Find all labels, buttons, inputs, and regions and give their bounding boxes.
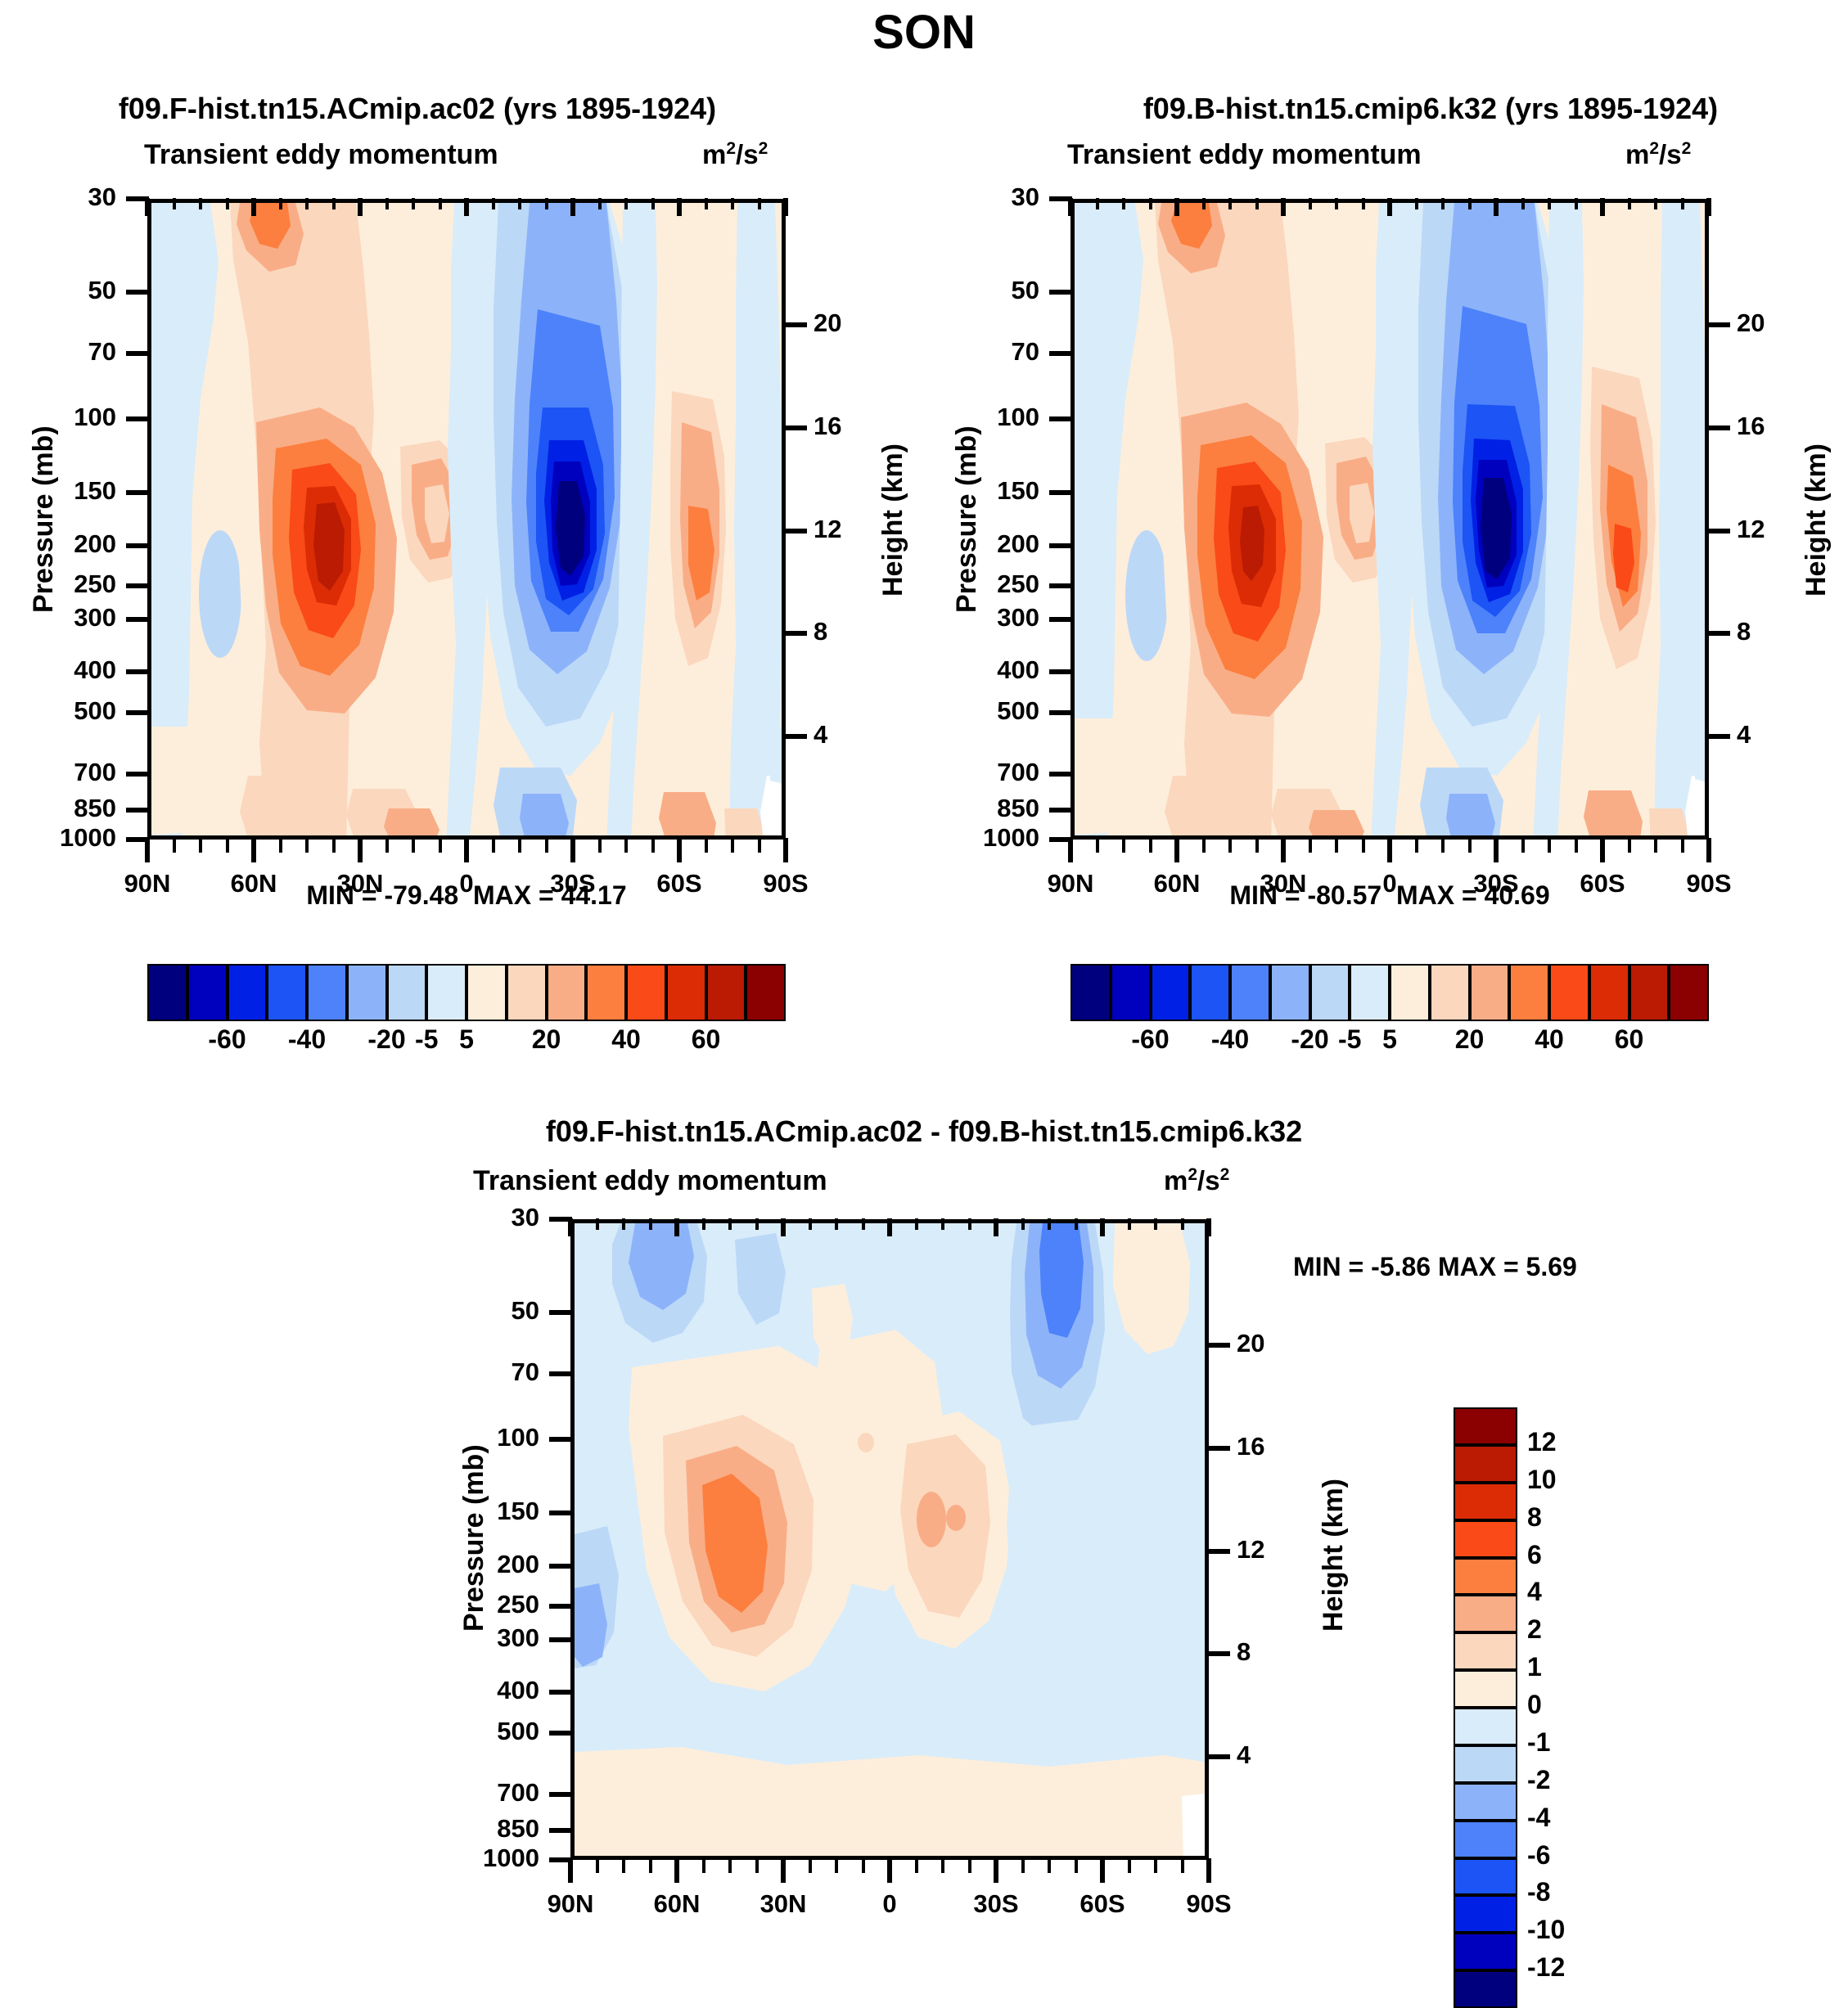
x-tick-mark <box>251 838 256 862</box>
colorbar-cell <box>467 964 507 1021</box>
colorbar-top-right <box>1070 964 1709 1021</box>
x-minor-tick-mark <box>1681 838 1684 853</box>
y-tick-mark <box>1049 710 1072 715</box>
x-top-tick-mark <box>1387 198 1392 216</box>
y-tick-mark <box>126 583 149 588</box>
colorbar-cell <box>1390 964 1430 1021</box>
y2-tick-label: 8 <box>1737 617 1794 646</box>
y-tick-label: 850 <box>0 794 116 823</box>
x-top-minor-tick-mark <box>1202 198 1206 209</box>
x-top-minor-tick-mark <box>1521 198 1525 209</box>
x-top-tick-mark <box>358 198 363 216</box>
x-minor-tick-mark <box>1628 838 1631 853</box>
x-top-minor-tick-mark <box>1021 1218 1025 1230</box>
x-minor-tick-mark <box>1415 838 1418 853</box>
colorbar-cell <box>1454 1933 1517 1970</box>
x-tick-label: 30S <box>939 1889 1053 1919</box>
colorbar-cell <box>1549 964 1589 1021</box>
y-tick-mark <box>549 1637 572 1642</box>
colorbar-cell <box>1454 1520 1517 1558</box>
y-tick-mark <box>1049 290 1072 295</box>
x-minor-tick-mark <box>1654 838 1657 853</box>
x-minor-tick-mark <box>1202 838 1206 853</box>
x-top-minor-tick-mark <box>624 198 628 209</box>
x-top-tick-mark <box>781 1218 786 1236</box>
y2-tick-label: 12 <box>1237 1535 1294 1565</box>
colorbar-tick-label: -10 <box>1527 1915 1617 1945</box>
y-tick-mark <box>1049 351 1072 356</box>
x-top-minor-tick-mark <box>702 1218 705 1230</box>
x-tick-mark <box>781 1858 786 1883</box>
y-tick-mark <box>1049 772 1072 777</box>
x-tick-mark <box>674 1858 679 1883</box>
colorbar-tick-label: -1 <box>1527 1727 1617 1758</box>
y2-tick-label: 4 <box>1737 720 1794 750</box>
x-minor-tick-mark <box>173 838 176 853</box>
colorbar-tick-label: 8 <box>1527 1502 1617 1533</box>
colorbar-cell <box>586 964 626 1021</box>
y2-tick-mark <box>784 529 807 534</box>
min-label-top-left: MIN = -79.48 <box>306 880 458 910</box>
x-top-minor-tick-mark <box>758 198 761 209</box>
y2-tick-label: 20 <box>1237 1329 1294 1358</box>
x-minor-tick-mark <box>702 1858 705 1873</box>
y-tick-mark <box>549 1511 572 1515</box>
minmax-bottom-diff: MIN = -5.86 MAX = 5.69 <box>1293 1252 1577 1282</box>
units-den-exponent: 2 <box>1220 1165 1230 1184</box>
x-minor-tick-mark <box>1122 838 1125 853</box>
x-top-tick-mark <box>783 198 788 216</box>
y2-tick-label: 4 <box>814 720 871 750</box>
x-minor-tick-mark <box>598 838 602 853</box>
panel-top-left: f09.F-hist.tn15.ACmip.ac02 (yrs 1895-192… <box>0 0 925 1080</box>
colorbar-cell <box>1454 1970 1517 2008</box>
x-top-minor-tick-mark <box>809 1218 812 1230</box>
colorbar-cell <box>1470 964 1510 1021</box>
panel-title-top-right: f09.B-hist.tn15.cmip6.k32 (yrs 1895-1924… <box>1013 92 1848 126</box>
y-tick-label: 1000 <box>923 823 1039 853</box>
colorbar-tick-label: -2 <box>1527 1765 1617 1795</box>
x-top-tick-mark <box>145 198 150 216</box>
y-tick-label: 150 <box>923 476 1039 506</box>
units-den-exponent: 2 <box>759 139 768 158</box>
colorbar-cell <box>1454 1483 1517 1520</box>
colorbar-cell <box>228 964 268 1021</box>
panel-title-top-left: f09.F-hist.tn15.ACmip.ac02 (yrs 1895-192… <box>0 92 835 126</box>
contour-field-bottom-diff <box>575 1223 1209 1860</box>
x-top-minor-tick-mark <box>1149 198 1152 209</box>
y-tick-label: 150 <box>0 476 116 506</box>
x-top-minor-tick-mark <box>1128 1218 1131 1230</box>
x-minor-tick-mark <box>624 838 628 853</box>
colorbar-cell <box>1454 1407 1517 1445</box>
colorbar-cell <box>1454 1821 1517 1858</box>
y2-tick-mark <box>1207 1549 1230 1554</box>
x-minor-tick-mark <box>1575 838 1578 853</box>
max-label-top-left: MAX = 44.17 <box>473 880 627 910</box>
y-tick-label: 850 <box>0 1814 539 1844</box>
y-tick-mark <box>126 710 149 715</box>
x-top-minor-tick-mark <box>1122 198 1125 209</box>
colorbar-labels-top-right: -60-40-20-55204060 <box>1070 1024 1709 1062</box>
y2-tick-label: 8 <box>814 617 871 646</box>
x-top-minor-tick-mark <box>1441 198 1445 209</box>
y-tick-label: 300 <box>0 603 116 633</box>
y-tick-label: 70 <box>923 337 1039 367</box>
y-tick-label: 100 <box>923 403 1039 432</box>
x-top-tick-mark <box>464 198 469 216</box>
y-tick-label: 30 <box>0 1203 539 1232</box>
colorbar-cell <box>1669 964 1709 1021</box>
y-tick-label: 100 <box>0 1423 539 1452</box>
y2-tick-label: 8 <box>1237 1637 1294 1667</box>
y-tick-label: 500 <box>0 696 116 726</box>
y2-tick-label: 16 <box>814 412 871 441</box>
y-tick-label: 250 <box>0 570 116 599</box>
x-tick-mark <box>1494 838 1499 862</box>
x-minor-tick-mark <box>731 838 734 853</box>
units-base: m <box>1164 1165 1188 1195</box>
y-tick-mark <box>126 543 149 548</box>
y-tick-mark <box>549 1828 572 1833</box>
contour-plot-top-right <box>1070 199 1709 840</box>
x-top-minor-tick-mark <box>862 1218 865 1230</box>
colorbar-cell <box>426 964 467 1021</box>
colorbar-cell <box>1454 1745 1517 1783</box>
y-tick-mark <box>126 490 149 495</box>
x-tick-mark <box>887 1858 892 1883</box>
x-minor-tick-mark <box>941 1858 944 1873</box>
x-top-tick-mark <box>251 198 256 216</box>
y2-tick-mark <box>1207 1651 1230 1656</box>
x-tick-mark <box>677 838 682 862</box>
x-top-minor-tick-mark <box>1309 198 1312 209</box>
x-top-minor-tick-mark <box>1181 1218 1184 1230</box>
colorbar-tick-label: -6 <box>1527 1840 1617 1871</box>
x-tick-mark <box>1600 838 1605 862</box>
x-minor-tick-mark <box>1521 838 1525 853</box>
colorbar-cell <box>1454 1445 1517 1483</box>
y-tick-mark <box>126 416 149 421</box>
x-top-minor-tick-mark <box>835 1218 838 1230</box>
y-tick-label: 150 <box>0 1497 539 1526</box>
x-minor-tick-mark <box>915 1858 918 1873</box>
colorbar-cell <box>1070 964 1111 1021</box>
colorbar-cell <box>1270 964 1310 1021</box>
max-label-top-right: MAX = 40.69 <box>1396 880 1550 910</box>
y2-tick-mark <box>784 734 807 739</box>
x-top-tick-mark <box>1281 198 1286 216</box>
x-minor-tick-mark <box>1154 1858 1157 1873</box>
x-tick-mark <box>1174 838 1179 862</box>
y-tick-label: 50 <box>0 1296 539 1326</box>
colorbar-cell <box>1310 964 1350 1021</box>
x-top-minor-tick-mark <box>1628 198 1631 209</box>
x-minor-tick-mark <box>1335 838 1338 853</box>
contour-field-top-left <box>151 203 786 840</box>
x-top-minor-tick-mark <box>1154 1218 1157 1230</box>
y-tick-mark <box>126 290 149 295</box>
colorbar-tick-label: 60 <box>1580 1024 1679 1055</box>
colorbar-cell <box>1350 964 1390 1021</box>
x-tick-label: 90S <box>1152 1889 1266 1919</box>
colorbar-cell <box>547 964 587 1021</box>
x-top-minor-tick-mark <box>332 198 336 209</box>
x-top-minor-tick-mark <box>915 1218 918 1230</box>
x-minor-tick-mark <box>332 838 336 853</box>
y-tick-label: 100 <box>0 403 116 432</box>
y2-tick-mark <box>1707 734 1730 739</box>
x-top-tick-mark <box>674 1218 679 1236</box>
x-tick-label: 90N <box>513 1889 628 1919</box>
y2-tick-mark <box>1707 631 1730 636</box>
x-minor-tick-mark <box>1021 1858 1025 1873</box>
x-top-minor-tick-mark <box>1548 198 1551 209</box>
x-minor-tick-mark <box>809 1858 812 1873</box>
y-tick-label: 250 <box>0 1590 539 1619</box>
figure-canvas: SON f09.F-hist.tn15.ACmip.ac02 (yrs 1895… <box>0 0 1848 1952</box>
x-top-minor-tick-mark <box>598 198 602 209</box>
x-tick-label: 30N <box>726 1889 841 1919</box>
units-slash: /s <box>736 139 759 169</box>
colorbar-tick-label: 1 <box>1527 1652 1617 1682</box>
x-minor-tick-mark <box>518 838 521 853</box>
y-tick-label: 200 <box>923 529 1039 559</box>
y2-tick-mark <box>1207 1754 1230 1759</box>
colorbar-cell <box>1454 1595 1517 1632</box>
x-tick-mark <box>570 838 575 862</box>
x-tick-mark <box>568 1858 573 1883</box>
colorbar-cell <box>307 964 347 1021</box>
x-minor-tick-mark <box>862 1858 865 1873</box>
colorbar-tick-label: -8 <box>1527 1877 1617 1907</box>
y-tick-label: 70 <box>0 337 116 367</box>
colorbar-labels-bottom-diff: 1210864210-1-2-4-6-8-10-12 <box>1527 1407 1642 2008</box>
x-minor-tick-mark <box>1075 1858 1078 1873</box>
colorbar-cell <box>1589 964 1629 1021</box>
x-top-minor-tick-mark <box>728 1218 732 1230</box>
y-tick-mark <box>1049 490 1072 495</box>
x-minor-tick-mark <box>835 1858 838 1873</box>
x-minor-tick-mark <box>1362 838 1365 853</box>
x-minor-tick-mark <box>226 838 229 853</box>
colorbar-cell <box>1629 964 1670 1021</box>
y-tick-label: 850 <box>923 794 1039 823</box>
colorbar-cell <box>1190 964 1230 1021</box>
colorbar-cell <box>1430 964 1470 1021</box>
x-top-minor-tick-mark <box>385 198 389 209</box>
colorbar-tick-label: 4 <box>1527 1577 1617 1607</box>
x-tick-mark <box>783 838 788 862</box>
x-top-minor-tick-mark <box>518 198 521 209</box>
colorbar-tick-label: 0 <box>1527 1690 1617 1720</box>
colorbar-cell <box>1454 1895 1517 1933</box>
y-tick-label: 50 <box>923 276 1039 305</box>
x-top-tick-mark <box>677 198 682 216</box>
x-top-minor-tick-mark <box>439 198 442 209</box>
contour-plot-top-left <box>147 199 786 840</box>
colorbar-cell <box>1454 1708 1517 1745</box>
x-minor-tick-mark <box>968 1858 971 1873</box>
x-tick-label: 60N <box>620 1889 734 1919</box>
x-tick-mark <box>464 838 469 862</box>
colorbar-tick-label: -12 <box>1527 1952 1617 1983</box>
y-tick-mark <box>126 351 149 356</box>
y-tick-label: 300 <box>923 603 1039 633</box>
x-top-tick-mark <box>1174 198 1179 216</box>
colorbar-tick-label: 60 <box>657 1024 755 1055</box>
y-tick-mark <box>1049 808 1072 813</box>
y-tick-mark <box>549 1792 572 1797</box>
x-top-minor-tick-mark <box>731 198 734 209</box>
x-top-minor-tick-mark <box>941 1218 944 1230</box>
x-top-minor-tick-mark <box>705 198 708 209</box>
y-tick-mark <box>549 1564 572 1569</box>
x-minor-tick-mark <box>1128 1858 1131 1873</box>
units-slash: /s <box>1659 139 1682 169</box>
colorbar-cell <box>147 964 187 1021</box>
panel-title-bottom-diff: f09.F-hist.tn15.ACmip.ac02 - f09.B-hist.… <box>0 1114 1848 1149</box>
colorbar-cell <box>1509 964 1549 1021</box>
colorbar-top-left <box>147 964 786 1021</box>
x-tick-mark <box>1100 1858 1105 1883</box>
units-base: m <box>702 139 726 169</box>
y2-tick-label: 12 <box>814 515 871 544</box>
units-label-bottom-diff: m2/s2 <box>1164 1165 1229 1196</box>
x-top-minor-tick-mark <box>545 198 548 209</box>
y-tick-mark <box>1049 669 1072 674</box>
x-tick-mark <box>994 1858 998 1883</box>
y-tick-mark <box>126 808 149 813</box>
x-top-minor-tick-mark <box>226 198 229 209</box>
panel-subtitle-top-left: Transient eddy momentum <box>144 139 498 171</box>
colorbar-tick-label: 12 <box>1527 1427 1617 1457</box>
colorbar-cell <box>1151 964 1191 1021</box>
x-minor-tick-mark <box>199 838 202 853</box>
y-tick-label: 200 <box>0 529 116 559</box>
x-top-minor-tick-mark <box>755 1218 759 1230</box>
x-top-tick-mark <box>1100 1218 1105 1236</box>
x-top-minor-tick-mark <box>968 1218 971 1230</box>
x-top-minor-tick-mark <box>199 198 202 209</box>
y-tick-label: 200 <box>0 1550 539 1579</box>
x-top-minor-tick-mark <box>596 1218 599 1230</box>
y-tick-label: 300 <box>0 1623 539 1653</box>
x-top-tick-mark <box>1206 1218 1211 1236</box>
colorbar-cell <box>1111 964 1151 1021</box>
x-minor-tick-mark <box>545 838 548 853</box>
y-tick-label: 1000 <box>0 823 116 853</box>
x-minor-tick-mark <box>1548 838 1551 853</box>
x-top-minor-tick-mark <box>412 198 415 209</box>
colorbar-cell <box>1454 1783 1517 1821</box>
y-tick-mark <box>1049 543 1072 548</box>
panel-subtitle-top-right: Transient eddy momentum <box>1067 139 1422 171</box>
y2-tick-label: 16 <box>1237 1432 1294 1461</box>
x-top-minor-tick-mark <box>279 198 282 209</box>
y-tick-mark <box>1049 583 1072 588</box>
colorbar-tick-label: 2 <box>1527 1614 1617 1645</box>
x-top-minor-tick-mark <box>1415 198 1418 209</box>
y2-tick-mark <box>1707 529 1730 534</box>
x-top-minor-tick-mark <box>1075 1218 1078 1230</box>
y-tick-mark <box>549 1310 572 1315</box>
colorbar-cell <box>1454 1670 1517 1708</box>
colorbar-bottom-diff <box>1454 1407 1517 2008</box>
y2-tick-label: 20 <box>1737 308 1794 338</box>
x-top-tick-mark <box>887 1218 892 1236</box>
x-top-minor-tick-mark <box>1654 198 1657 209</box>
x-minor-tick-mark <box>596 1858 599 1873</box>
y2-tick-label: 4 <box>1237 1740 1294 1770</box>
colorbar-cell <box>706 964 746 1021</box>
x-minor-tick-mark <box>1096 838 1099 853</box>
units-num-exponent: 2 <box>1188 1165 1197 1184</box>
x-top-tick-mark <box>1706 198 1711 216</box>
x-minor-tick-mark <box>622 1858 625 1873</box>
x-top-minor-tick-mark <box>492 198 495 209</box>
y-tick-label: 70 <box>0 1357 539 1387</box>
x-minor-tick-mark <box>1309 838 1312 853</box>
units-slash: /s <box>1197 1165 1220 1195</box>
y2-tick-mark <box>1707 322 1730 327</box>
x-minor-tick-mark <box>728 1858 732 1873</box>
y-tick-mark <box>126 669 149 674</box>
y-tick-label: 500 <box>923 696 1039 726</box>
colorbar-tick-label: 10 <box>1527 1465 1617 1495</box>
units-label-top-left: m2/s2 <box>702 139 768 170</box>
x-minor-tick-mark <box>439 838 442 853</box>
y-tick-mark <box>1049 617 1072 622</box>
colorbar-tick-label: -4 <box>1527 1803 1617 1833</box>
panel-top-right: f09.B-hist.tn15.cmip6.k32 (yrs 1895-1924… <box>923 0 1848 1080</box>
y-tick-label: 700 <box>923 758 1039 787</box>
y-tick-mark <box>549 1731 572 1736</box>
colorbar-cell <box>347 964 387 1021</box>
y-tick-mark <box>126 772 149 777</box>
x-minor-tick-mark <box>1228 838 1232 853</box>
colorbar-cell <box>187 964 228 1021</box>
x-top-minor-tick-mark <box>1575 198 1578 209</box>
x-top-minor-tick-mark <box>622 1218 625 1230</box>
x-tick-mark <box>1068 838 1073 862</box>
y-tick-mark <box>126 617 149 622</box>
y2-tick-label: 20 <box>814 308 871 338</box>
units-label-top-right: m2/s2 <box>1625 139 1691 170</box>
colorbar-cell <box>1454 1858 1517 1896</box>
y2-tick-mark <box>784 425 807 430</box>
x-top-minor-tick-mark <box>1681 198 1684 209</box>
units-den-exponent: 2 <box>1682 139 1692 158</box>
colorbar-cell <box>507 964 547 1021</box>
x-minor-tick-mark <box>1255 838 1259 853</box>
minmax-top-right: MIN = -80.57 MAX = 40.69 <box>1070 880 1709 911</box>
y-tick-mark <box>549 1437 572 1442</box>
x-top-tick-mark <box>1600 198 1605 216</box>
x-top-minor-tick-mark <box>1362 198 1365 209</box>
colorbar-tick-label: 6 <box>1527 1540 1617 1570</box>
x-tick-mark <box>145 838 150 862</box>
x-minor-tick-mark <box>412 838 415 853</box>
y-tick-label: 700 <box>0 758 116 787</box>
x-top-minor-tick-mark <box>173 198 176 209</box>
x-tick-label: 0 <box>832 1889 947 1919</box>
x-top-minor-tick-mark <box>1048 1218 1051 1230</box>
x-top-tick-mark <box>1068 198 1073 216</box>
contour-field-top-right <box>1075 203 1709 840</box>
x-minor-tick-mark <box>755 1858 759 1873</box>
y2-tick-mark <box>784 631 807 636</box>
